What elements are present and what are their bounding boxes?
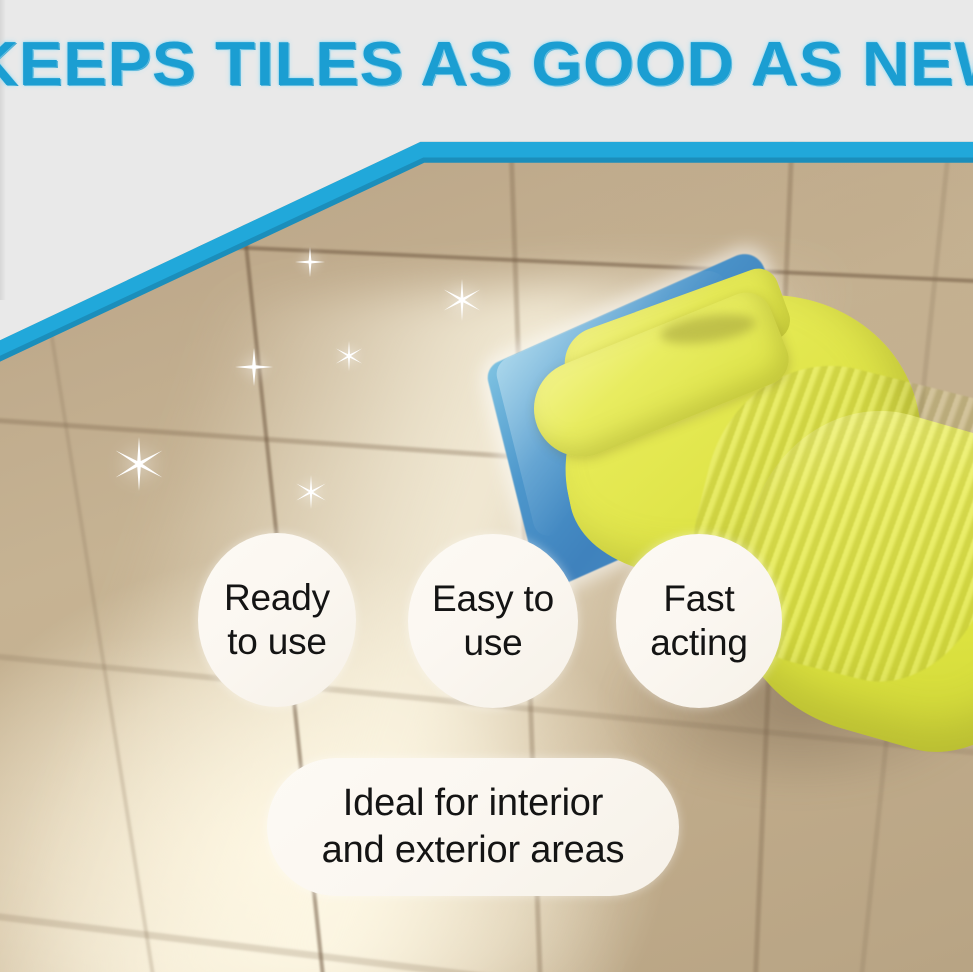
feature-badge-line1: Easy to: [432, 577, 554, 621]
feature-badge-line1: Fast: [650, 577, 748, 621]
feature-badge-line2: use: [432, 621, 554, 665]
feature-badge-line2: to use: [224, 620, 330, 664]
feature-badge-easy-to-use[interactable]: Easy to use: [408, 534, 578, 708]
feature-badge-fast-acting[interactable]: Fast acting: [616, 534, 782, 708]
page-title: KEEPS TILES AS GOOD AS NEW: [0, 34, 973, 96]
feature-badge-ready-to-use[interactable]: Ready to use: [198, 533, 356, 707]
feature-badge-line2: and exterior areas: [322, 827, 625, 875]
feature-badge-line1: Ideal for interior: [322, 780, 625, 828]
feature-badge-line1: Ready: [224, 576, 330, 620]
feature-badge-interior-exterior[interactable]: Ideal for interior and exterior areas: [267, 758, 679, 896]
feature-badge-line2: acting: [650, 621, 748, 665]
product-feature-poster: KEEPS TILES AS GOOD AS NEW: [0, 0, 973, 972]
